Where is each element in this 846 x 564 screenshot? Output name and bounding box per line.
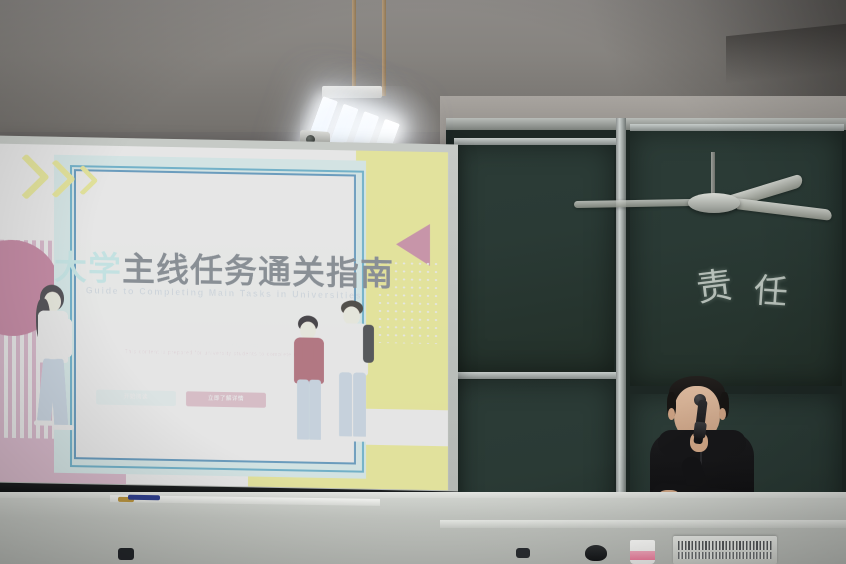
pen-blue[interactable] — [128, 495, 160, 501]
slide-illustration-woman — [22, 284, 80, 475]
blackboard-panel-upper-right — [630, 130, 842, 386]
desk-small-object-mid[interactable] — [516, 548, 530, 558]
presenter-ear-left — [668, 408, 675, 420]
blackboard-frame-vertical — [616, 118, 626, 530]
slide-button-left[interactable]: 开始阅读 — [96, 390, 176, 407]
ceiling-fan-rod — [711, 152, 715, 196]
lamp-rod-left — [352, 0, 356, 92]
desk-secondary-ledge — [440, 520, 846, 528]
ceiling-fan-hub — [688, 193, 740, 213]
presenter-ear-right — [719, 408, 726, 420]
classroom-photo: 责 任 大学主线任务通关指南 — [0, 0, 846, 564]
lamp-rod-right — [382, 0, 386, 96]
keyboard-key-row-top — [678, 541, 772, 550]
slide-illustration-student-2 — [332, 300, 380, 477]
projected-slide: 大学主线任务通关指南 Guide to Completing Main Task… — [0, 144, 448, 491]
computer-keyboard[interactable] — [673, 536, 777, 564]
cup-pink-band — [630, 551, 655, 560]
slide-button-right[interactable]: 立即了解详情 — [186, 391, 266, 408]
slide-title-accent: 大学 — [54, 248, 122, 288]
blackboard-frame-horizontal-b — [454, 372, 616, 379]
desk-small-object-left[interactable] — [118, 548, 134, 560]
lamp-mount — [322, 86, 382, 98]
microphone-grip — [693, 421, 707, 438]
blackboard-panel-upper-left — [454, 144, 614, 372]
computer-mouse[interactable] — [585, 545, 607, 561]
keyboard-key-row-bottom — [678, 552, 772, 559]
blackboard-frame-horizontal-c — [630, 124, 844, 131]
blackboard-frame-horizontal-a — [454, 138, 616, 145]
